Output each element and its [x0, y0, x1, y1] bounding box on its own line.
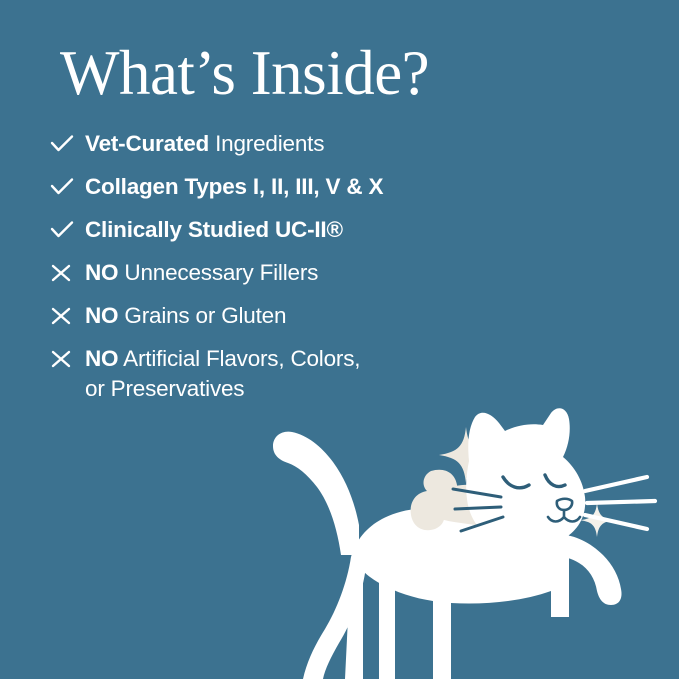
list-item-rest: Unnecessary Fillers — [118, 260, 318, 285]
list-item-text: Vet-Curated Ingredients — [85, 129, 324, 159]
list-item-text: NO Artificial Flavors, Colors, or Preser… — [85, 344, 360, 404]
list-item-rest: Artificial Flavors, Colors, or Preservat… — [85, 346, 360, 401]
cat-nose — [557, 499, 572, 510]
cross-icon — [49, 344, 85, 374]
list-item-lead: NO — [85, 260, 118, 285]
list-item-text: NO Unnecessary Fillers — [85, 258, 318, 288]
check-icon — [49, 129, 85, 159]
list-item: Clinically Studied UC-II® — [49, 215, 649, 258]
list-item: NO Unnecessary Fillers — [49, 258, 649, 301]
list-item-rest: Ingredients — [209, 131, 324, 156]
cat-illustration — [255, 405, 679, 679]
benefits-list: Vet-Curated Ingredients Collagen Types I… — [49, 129, 649, 404]
list-item-lead: NO — [85, 346, 118, 371]
list-item: Collagen Types I, II, III, V & X — [49, 172, 649, 215]
cross-icon — [49, 301, 85, 331]
list-item: NO Grains or Gluten — [49, 301, 649, 344]
cross-icon — [49, 258, 85, 288]
list-item-lead: Vet-Curated — [85, 131, 209, 156]
cat-rear-leg-back — [379, 573, 395, 679]
list-item-text: Clinically Studied UC-II® — [85, 215, 343, 245]
whats-inside-card: What’s Inside? Vet-Curated Ingredients C… — [0, 0, 679, 679]
list-item-lead: Clinically Studied UC-II® — [85, 217, 343, 242]
list-item: NO Artificial Flavors, Colors, or Preser… — [49, 344, 649, 404]
list-item-text: NO Grains or Gluten — [85, 301, 286, 331]
list-item-lead: Collagen Types I, II, III, V & X — [85, 174, 383, 199]
list-item: Vet-Curated Ingredients — [49, 129, 649, 172]
page-title: What’s Inside? — [60, 42, 429, 105]
list-item-rest: Grains or Gluten — [118, 303, 286, 328]
list-item-lead: NO — [85, 303, 118, 328]
cat-tail — [273, 432, 359, 555]
check-icon — [49, 215, 85, 245]
list-item-text: Collagen Types I, II, III, V & X — [85, 172, 383, 202]
check-icon — [49, 172, 85, 202]
